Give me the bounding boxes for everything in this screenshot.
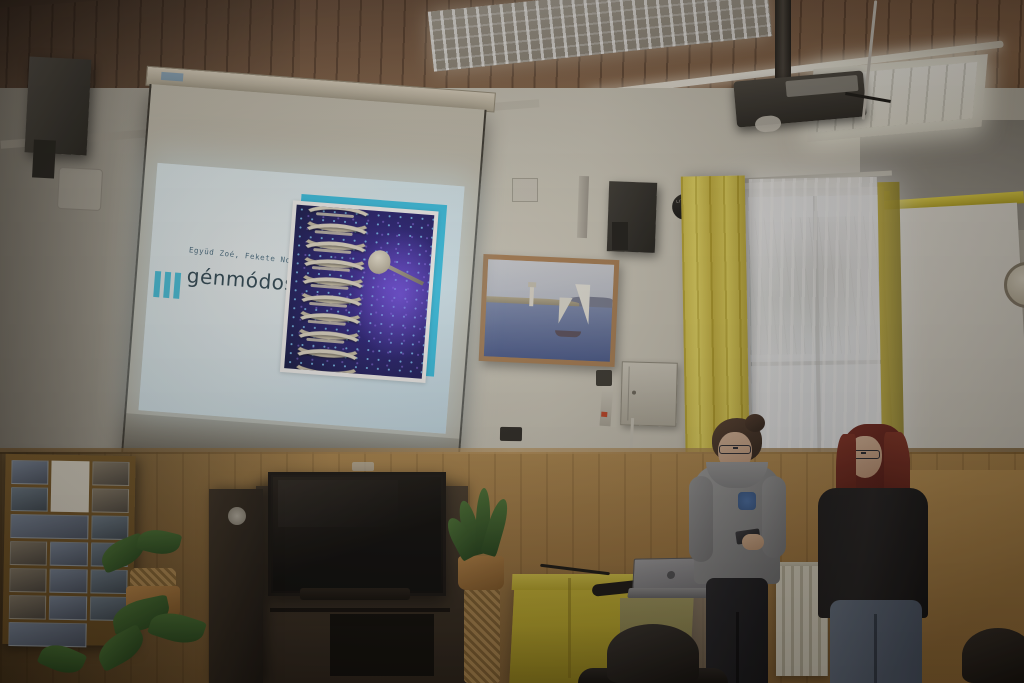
dna-image	[284, 205, 434, 379]
presenter-right-jacket	[818, 488, 928, 618]
painting-sea	[484, 302, 612, 362]
painting-boat-hull	[555, 330, 581, 337]
collage-photo	[90, 569, 128, 594]
presenter-left-sleeve	[689, 476, 713, 562]
collage-photo	[10, 541, 48, 566]
collage-photo	[50, 542, 88, 567]
wall-junction-box	[512, 178, 538, 202]
projector-mount-pole	[775, 0, 791, 78]
wall-outlet-left	[500, 427, 522, 441]
projection-screen: Együd Zoé, Fekete Noémi génmódosítás	[120, 78, 489, 488]
audience-head-front	[607, 624, 699, 683]
plant-pot-center	[458, 556, 504, 590]
trouser-seam	[736, 612, 739, 683]
speaker-badge-icon	[228, 507, 246, 525]
wall-access-panel	[57, 167, 103, 211]
dna-helix-icon	[290, 205, 375, 378]
collage-photo	[91, 488, 129, 513]
presenter-left-bun	[745, 414, 765, 432]
accent-bar-1	[153, 271, 161, 297]
glasses-icon	[719, 445, 751, 454]
television	[268, 472, 446, 596]
slide-accent-bars	[153, 271, 181, 299]
collage-photo	[91, 515, 129, 540]
presenter-right-jeans	[830, 600, 922, 683]
cabinet-open-shelf	[330, 614, 434, 676]
collage-photo-wide	[10, 514, 88, 539]
collage-photo	[49, 596, 87, 621]
collage-photo	[9, 595, 47, 620]
collage-photo-wide	[8, 622, 86, 647]
accent-bar-2	[163, 272, 171, 298]
cabinet-shelf-edge	[270, 608, 450, 612]
collage-photo	[9, 568, 47, 593]
wicker-plant-stand	[464, 588, 500, 683]
wall-speaker-right-bracket	[612, 222, 628, 250]
electrical-cabinet	[620, 361, 678, 426]
presenter-left-sleeve	[762, 476, 786, 558]
laptop-logo-icon	[667, 571, 675, 579]
laptop-keyboard	[627, 588, 713, 598]
tv-top-device	[352, 462, 374, 471]
painting-sail-small	[559, 297, 575, 324]
collage-poster	[51, 461, 89, 513]
power-switch-icon	[601, 412, 607, 417]
collage-photo	[50, 569, 88, 594]
collage-photo	[11, 487, 49, 512]
cabinet-latch-icon	[632, 391, 636, 395]
collage-photo	[11, 460, 49, 485]
projected-slide: Együd Zoé, Fekete Noémi génmódosítás	[138, 163, 464, 434]
presenter-left-hand	[742, 534, 764, 550]
tv-stand	[300, 588, 410, 600]
classroom-photo: LITTLE BIRD	[0, 0, 1024, 683]
hoodie-logo-icon	[738, 492, 756, 510]
framed-painting	[479, 254, 620, 367]
tablecloth-fold	[568, 578, 571, 678]
audience-head-right	[962, 628, 1024, 683]
power-adapter	[596, 370, 612, 386]
screen-housing-badge	[161, 72, 184, 82]
screen-surface: Együd Zoé, Fekete Noémi génmódosítás	[120, 84, 486, 492]
wall-speaker-left-bracket	[32, 139, 56, 178]
painting-canvas	[484, 259, 614, 362]
collage-photo	[92, 461, 130, 486]
tv-screen-reflection	[278, 480, 398, 527]
